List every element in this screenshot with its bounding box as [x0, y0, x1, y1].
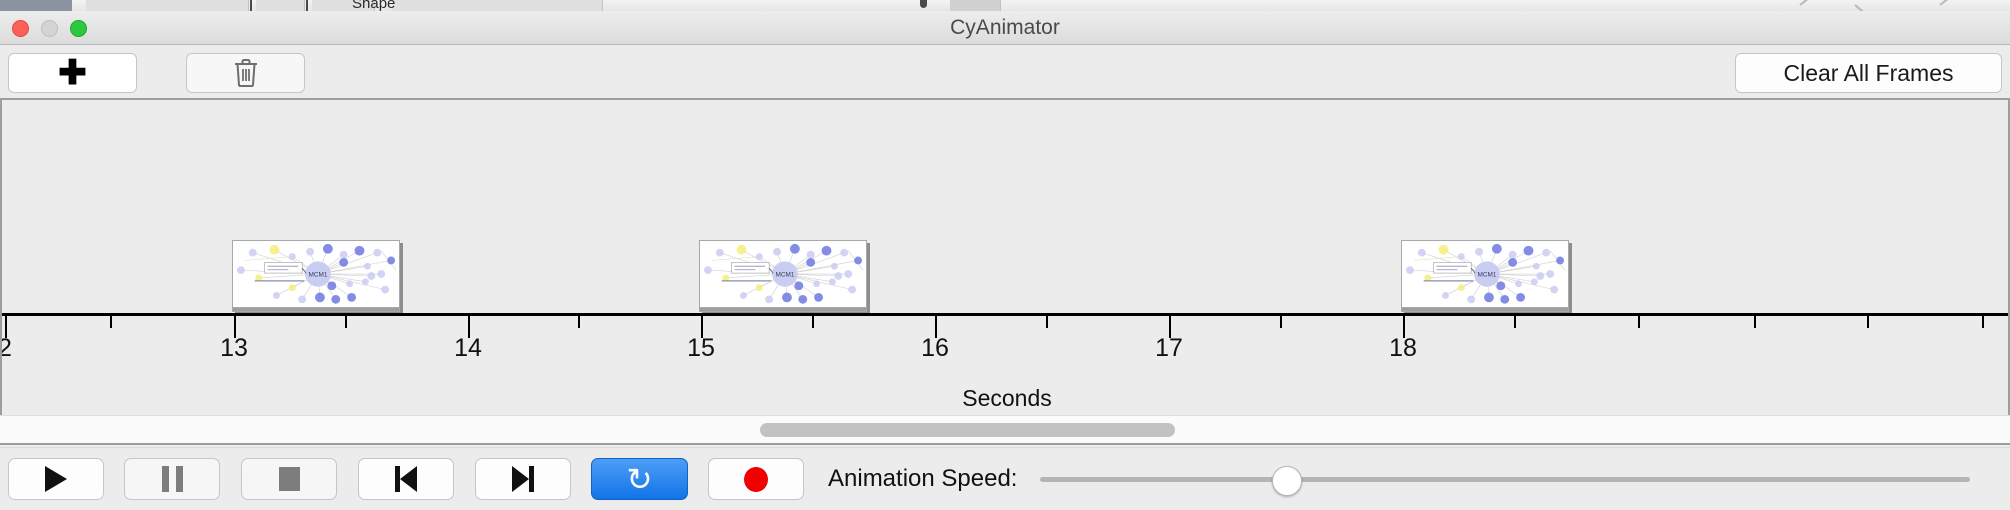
- svg-text:MCM1: MCM1: [1478, 272, 1497, 279]
- delete-frame-button[interactable]: [186, 53, 305, 93]
- axis-tick-label: 16: [921, 334, 949, 363]
- loop-button[interactable]: ↻: [591, 458, 688, 500]
- record-button[interactable]: [708, 458, 804, 500]
- axis-tick-label: 2: [0, 334, 12, 363]
- title-bar: CyAnimator: [0, 11, 2010, 45]
- clear-all-frames-label: Clear All Frames: [1784, 60, 1954, 87]
- axis-tick-label: 13: [220, 334, 248, 363]
- axis-tick-minor: [1982, 316, 1984, 328]
- svg-text:MCM1: MCM1: [776, 272, 795, 279]
- axis-tick-minor: [578, 316, 580, 328]
- pause-button[interactable]: [124, 458, 220, 500]
- background-tick-icon: [250, 0, 252, 11]
- axis-tick-minor: [1280, 316, 1282, 328]
- stop-button[interactable]: [241, 458, 337, 500]
- skip-previous-icon: [395, 466, 417, 492]
- clear-all-frames-button[interactable]: Clear All Frames: [1735, 53, 2002, 93]
- background-chip: [392, 0, 603, 11]
- plus-icon: ✚: [58, 56, 87, 90]
- axis-tick-minor: [1638, 316, 1640, 328]
- background-tick-icon: [306, 0, 308, 11]
- skip-next-button[interactable]: [475, 458, 571, 500]
- trash-icon: [233, 58, 259, 88]
- background-chip: [950, 0, 1001, 11]
- axis-tick-minor: [1514, 316, 1516, 328]
- maximize-window-button[interactable]: [70, 20, 87, 37]
- loop-icon: ↻: [627, 464, 653, 495]
- play-button[interactable]: [8, 458, 104, 500]
- axis-tick-minor: [110, 316, 112, 328]
- playback-control-bar: ↻ Animation Speed:: [0, 447, 2010, 510]
- record-icon: [744, 467, 768, 492]
- background-network-edge: [1799, 0, 1844, 6]
- pause-icon: [162, 466, 183, 492]
- axis-tick-label: 18: [1389, 334, 1417, 363]
- timeline-scrollbar-thumb[interactable]: [760, 423, 1175, 437]
- timeline-panel[interactable]: MCM1 MCM1 MCM1 2131415161718 Secon: [0, 100, 2010, 415]
- add-frame-button[interactable]: ✚: [8, 53, 137, 93]
- timeline-frame-thumbnail[interactable]: MCM1: [1401, 240, 1569, 312]
- window-title: CyAnimator: [0, 11, 2010, 45]
- axis-tick-label: 14: [454, 334, 482, 363]
- background-pointer-icon: [920, 0, 927, 8]
- stop-icon: [279, 467, 300, 491]
- axis-tick-minor: [1754, 316, 1756, 328]
- skip-previous-button[interactable]: [358, 458, 454, 500]
- animation-speed-slider-thumb[interactable]: [1272, 466, 1302, 496]
- axis-tick-label: 15: [687, 334, 715, 363]
- timeline-scrollbar-track[interactable]: [0, 415, 2010, 445]
- skip-next-icon: [512, 466, 534, 492]
- background-chip: [196, 0, 249, 11]
- minimize-window-button[interactable]: [41, 20, 58, 37]
- background-network-edge: [1939, 0, 1984, 6]
- timeline-axis-line: [2, 313, 2010, 316]
- timeline-axis-title: Seconds: [2, 385, 2010, 412]
- frame-toolbar: ✚ Clear All Frames: [0, 45, 2010, 100]
- axis-tick-minor: [345, 316, 347, 328]
- play-icon: [45, 466, 67, 492]
- animation-speed-label: Animation Speed:: [828, 458, 1017, 500]
- axis-tick-label: 17: [1155, 334, 1183, 363]
- animation-speed-slider-rail: [1040, 477, 1970, 482]
- animation-speed-slider[interactable]: [1040, 458, 1970, 500]
- close-window-button[interactable]: [12, 20, 29, 37]
- axis-tick-minor: [1046, 316, 1048, 328]
- background-chip: [256, 0, 305, 11]
- axis-tick-minor: [812, 316, 814, 328]
- svg-text:MCM1: MCM1: [309, 272, 328, 279]
- background-dark-chip: [0, 0, 72, 11]
- axis-tick-minor: [1867, 316, 1869, 328]
- timeline-frame-thumbnail[interactable]: MCM1: [232, 240, 400, 312]
- timeline-frame-thumbnail[interactable]: MCM1: [699, 240, 867, 312]
- cyanimator-window: Shape CyAnimator ✚ Clear All Frames: [0, 0, 2010, 510]
- background-chip: [86, 0, 197, 11]
